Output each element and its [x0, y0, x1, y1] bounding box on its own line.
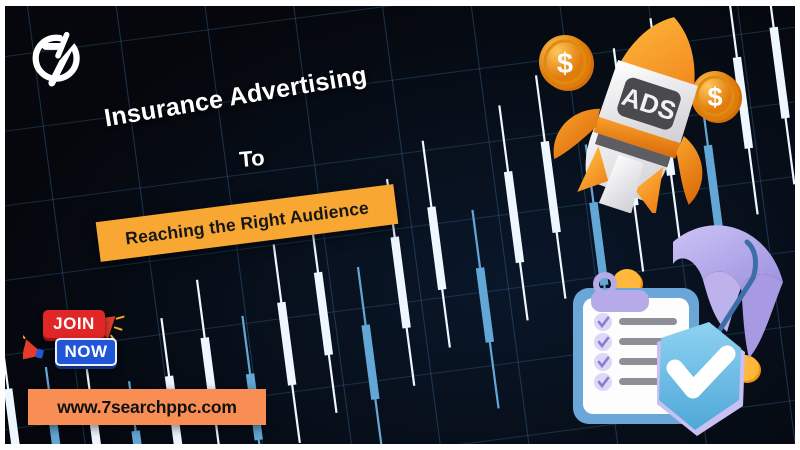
svg-text:$: $: [707, 82, 722, 112]
seven-search-ppc-logo-icon[interactable]: [27, 26, 89, 88]
join-now-badge[interactable]: JOIN NOW: [23, 306, 135, 378]
dollar-coin-left: $: [539, 35, 594, 91]
banner-stage: Insurance Advertising To Reaching the Ri…: [5, 6, 795, 444]
ads-rocket-illustration: $ $ ADS: [510, 8, 795, 213]
website-url-bar[interactable]: www.7searchppc.com: [28, 389, 266, 425]
cta-now-label[interactable]: NOW: [55, 338, 117, 366]
dollar-coin-right: $: [691, 71, 742, 123]
cta-join-label[interactable]: JOIN: [43, 310, 105, 338]
insurance-advertising-banner: Insurance Advertising To Reaching the Ri…: [0, 0, 800, 450]
insurance-illustration: [557, 202, 795, 444]
svg-text:$: $: [557, 48, 573, 80]
website-url-text: www.7searchppc.com: [57, 397, 237, 418]
